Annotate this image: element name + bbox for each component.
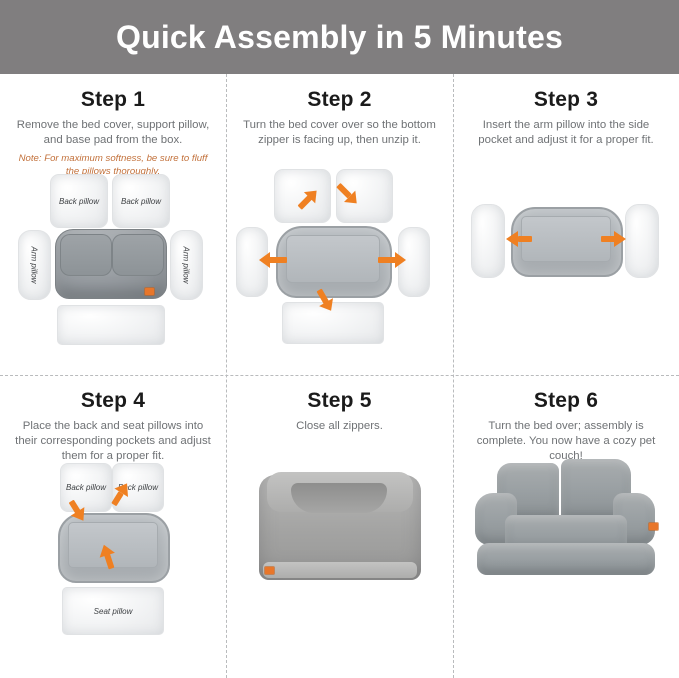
- seat-pillow: Seat pillow: [62, 587, 164, 635]
- back-pillow-left: Back pillow: [50, 174, 108, 228]
- back-pillow-right: Back pillow: [112, 174, 170, 228]
- couch-base: [477, 543, 655, 575]
- steps-grid: Step 1 Remove the bed cover, support pil…: [0, 74, 679, 678]
- arm-pillow-left: [471, 204, 505, 278]
- step-panel-1: Step 1 Remove the bed cover, support pil…: [0, 74, 226, 375]
- seat-pillow-label: Seat pillow: [63, 588, 163, 634]
- bed-cover-opening: [521, 216, 611, 262]
- step-6-illustration: [453, 375, 679, 678]
- step-5-illustration: [226, 375, 453, 678]
- arm-pillow-right: Arm pillow: [170, 230, 203, 300]
- back-pillow-right-label: Back pillow: [113, 175, 169, 227]
- back-pillow-left-label: Back pillow: [51, 175, 107, 227]
- bed-base-trim: [263, 562, 417, 578]
- bed-center-well: [291, 483, 387, 513]
- step-panel-3: Step 3 Insert the arm pillow into the si…: [453, 74, 679, 375]
- assembled-bed-upside-down: [259, 475, 421, 580]
- bed-cover-opening: [286, 235, 380, 283]
- step-4-illustration: Back pillow Back pillow Seat pillow: [0, 375, 226, 678]
- step-2-illustration: [226, 74, 453, 375]
- base-pad: [57, 305, 165, 345]
- step-panel-5: Step 5 Close all zippers.: [226, 375, 453, 678]
- step-panel-4: Step 4 Place the back and seat pillows i…: [0, 375, 226, 678]
- assembly-instruction-sheet: Quick Assembly in 5 Minutes Step 1 Remov…: [0, 0, 679, 678]
- bed-cover-open: [511, 207, 623, 277]
- step-1-illustration: Back pillow Back pillow Arm pillow Arm p…: [0, 74, 226, 375]
- page-title: Quick Assembly in 5 Minutes: [116, 19, 563, 56]
- bed-cover-seam-left: [60, 234, 112, 276]
- brand-tag: [145, 288, 154, 295]
- back-pillow-left: Back pillow: [60, 463, 112, 512]
- bed-cover-opening: [68, 522, 158, 568]
- divider-vertical-2: [453, 74, 454, 678]
- bed-cover-seam-right: [112, 234, 164, 276]
- bed-cover-flipped: [276, 226, 392, 298]
- brand-tag: [649, 523, 658, 530]
- divider-horizontal: [0, 375, 679, 376]
- bed-cover: [55, 229, 167, 299]
- arm-pillow-left: Arm pillow: [18, 230, 51, 300]
- header-banner: Quick Assembly in 5 Minutes: [0, 0, 679, 74]
- step-3-illustration: [453, 74, 679, 375]
- step-panel-2: Step 2 Turn the bed cover over so the bo…: [226, 74, 453, 375]
- arm-pillow-right: [625, 204, 659, 278]
- step-panel-6: Step 6 Turn the bed over; assembly is co…: [453, 375, 679, 678]
- brand-tag: [265, 567, 274, 574]
- divider-vertical-1: [226, 74, 227, 678]
